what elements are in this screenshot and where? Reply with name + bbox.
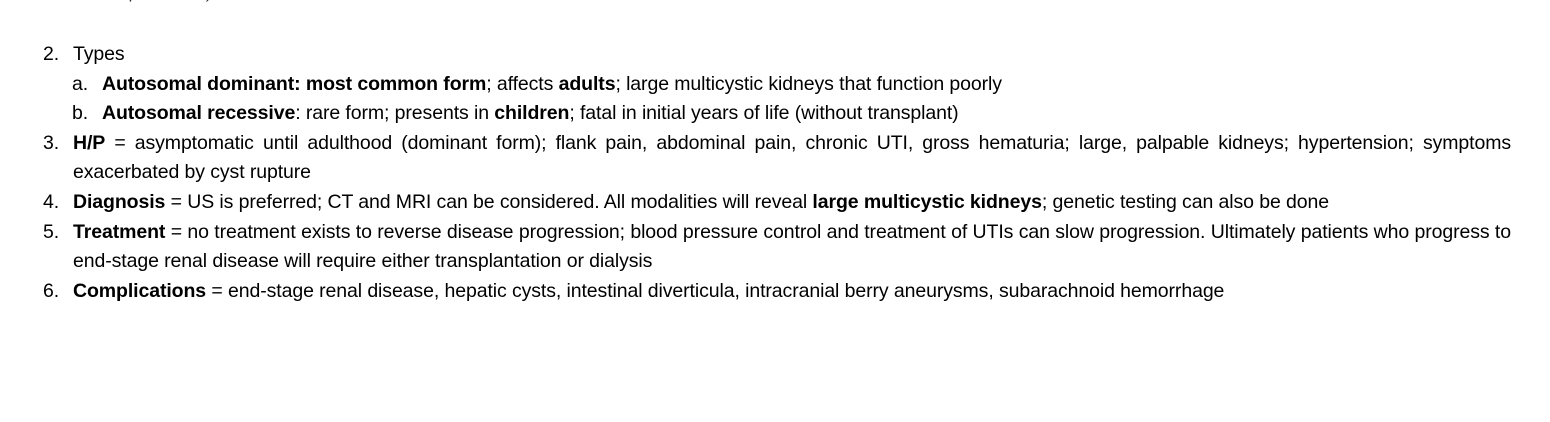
plain-text: ; genetic testing can also be done xyxy=(1042,191,1329,213)
list-item-text: Autosomal dominant: most common form; af… xyxy=(102,73,1002,95)
emphasis-text: Treatment xyxy=(73,221,165,243)
list-item-text: Types xyxy=(73,43,125,65)
plain-text: = US is preferred; CT and MRI can be con… xyxy=(165,191,812,213)
plain-text: = no treatment exists to reverse disease… xyxy=(73,221,1511,273)
list-item: 5.Treatment = no treatment exists to rev… xyxy=(43,218,1511,277)
emphasis-text: large multicystic kidneys xyxy=(812,191,1041,213)
list-item: 4.Diagnosis = US is preferred; CT and MR… xyxy=(43,188,1511,218)
list-item-marker: a. xyxy=(72,70,98,100)
list-item: 3.H/P = asymptomatic until adulthood (do… xyxy=(43,129,1511,188)
list-item-marker: b. xyxy=(72,99,98,129)
list-item-marker: 2. xyxy=(43,40,69,70)
emphasis-text: Complications xyxy=(73,280,206,302)
plain-text: = end-stage renal disease, hepatic cysts… xyxy=(206,280,1224,302)
list-item-marker: 4. xyxy=(43,188,69,218)
plain-text: ; affects xyxy=(486,73,558,95)
emphasis-text: children xyxy=(494,102,569,124)
plain-text: ; fatal in initial years of life (withou… xyxy=(569,102,958,124)
list-item-text: Autosomal recessive: rare form; presents… xyxy=(102,102,959,124)
list-item: a.Autosomal dominant: most common form; … xyxy=(43,70,1511,100)
numbered-list: 2.Typesa.Autosomal dominant: most common… xyxy=(43,40,1511,306)
list-item-text: Diagnosis = US is preferred; CT and MRI … xyxy=(73,191,1329,213)
list-item-text: H/P = asymptomatic until adulthood (domi… xyxy=(73,132,1511,184)
plain-text: Types xyxy=(73,43,125,65)
document-page: permission) 2.Typesa.Autosomal dominant:… xyxy=(0,0,1550,422)
plain-text: = asymptomatic until adulthood (dominant… xyxy=(73,132,1511,184)
emphasis-text: Diagnosis xyxy=(73,191,165,213)
plain-text: ; large multicystic kidneys that functio… xyxy=(615,73,1001,95)
list-item-marker: 6. xyxy=(43,277,69,307)
list-item-text: Treatment = no treatment exists to rever… xyxy=(73,221,1511,273)
list-item-marker: 5. xyxy=(43,218,69,248)
emphasis-text: Autosomal dominant: most common form xyxy=(102,73,486,95)
caption-fragment-text: permission) xyxy=(130,0,213,3)
emphasis-text: Autosomal recessive xyxy=(102,102,295,124)
plain-text: : rare form; presents in xyxy=(295,102,494,124)
list-item-marker: 3. xyxy=(43,129,69,159)
list-item: 2.Types xyxy=(43,40,1511,70)
emphasis-text: adults xyxy=(559,73,616,95)
list-item-text: Complications = end-stage renal disease,… xyxy=(73,280,1224,302)
list-item: b.Autosomal recessive: rare form; presen… xyxy=(43,99,1511,129)
list-item: 6.Complications = end-stage renal diseas… xyxy=(43,277,1511,307)
emphasis-text: H/P xyxy=(73,132,105,154)
